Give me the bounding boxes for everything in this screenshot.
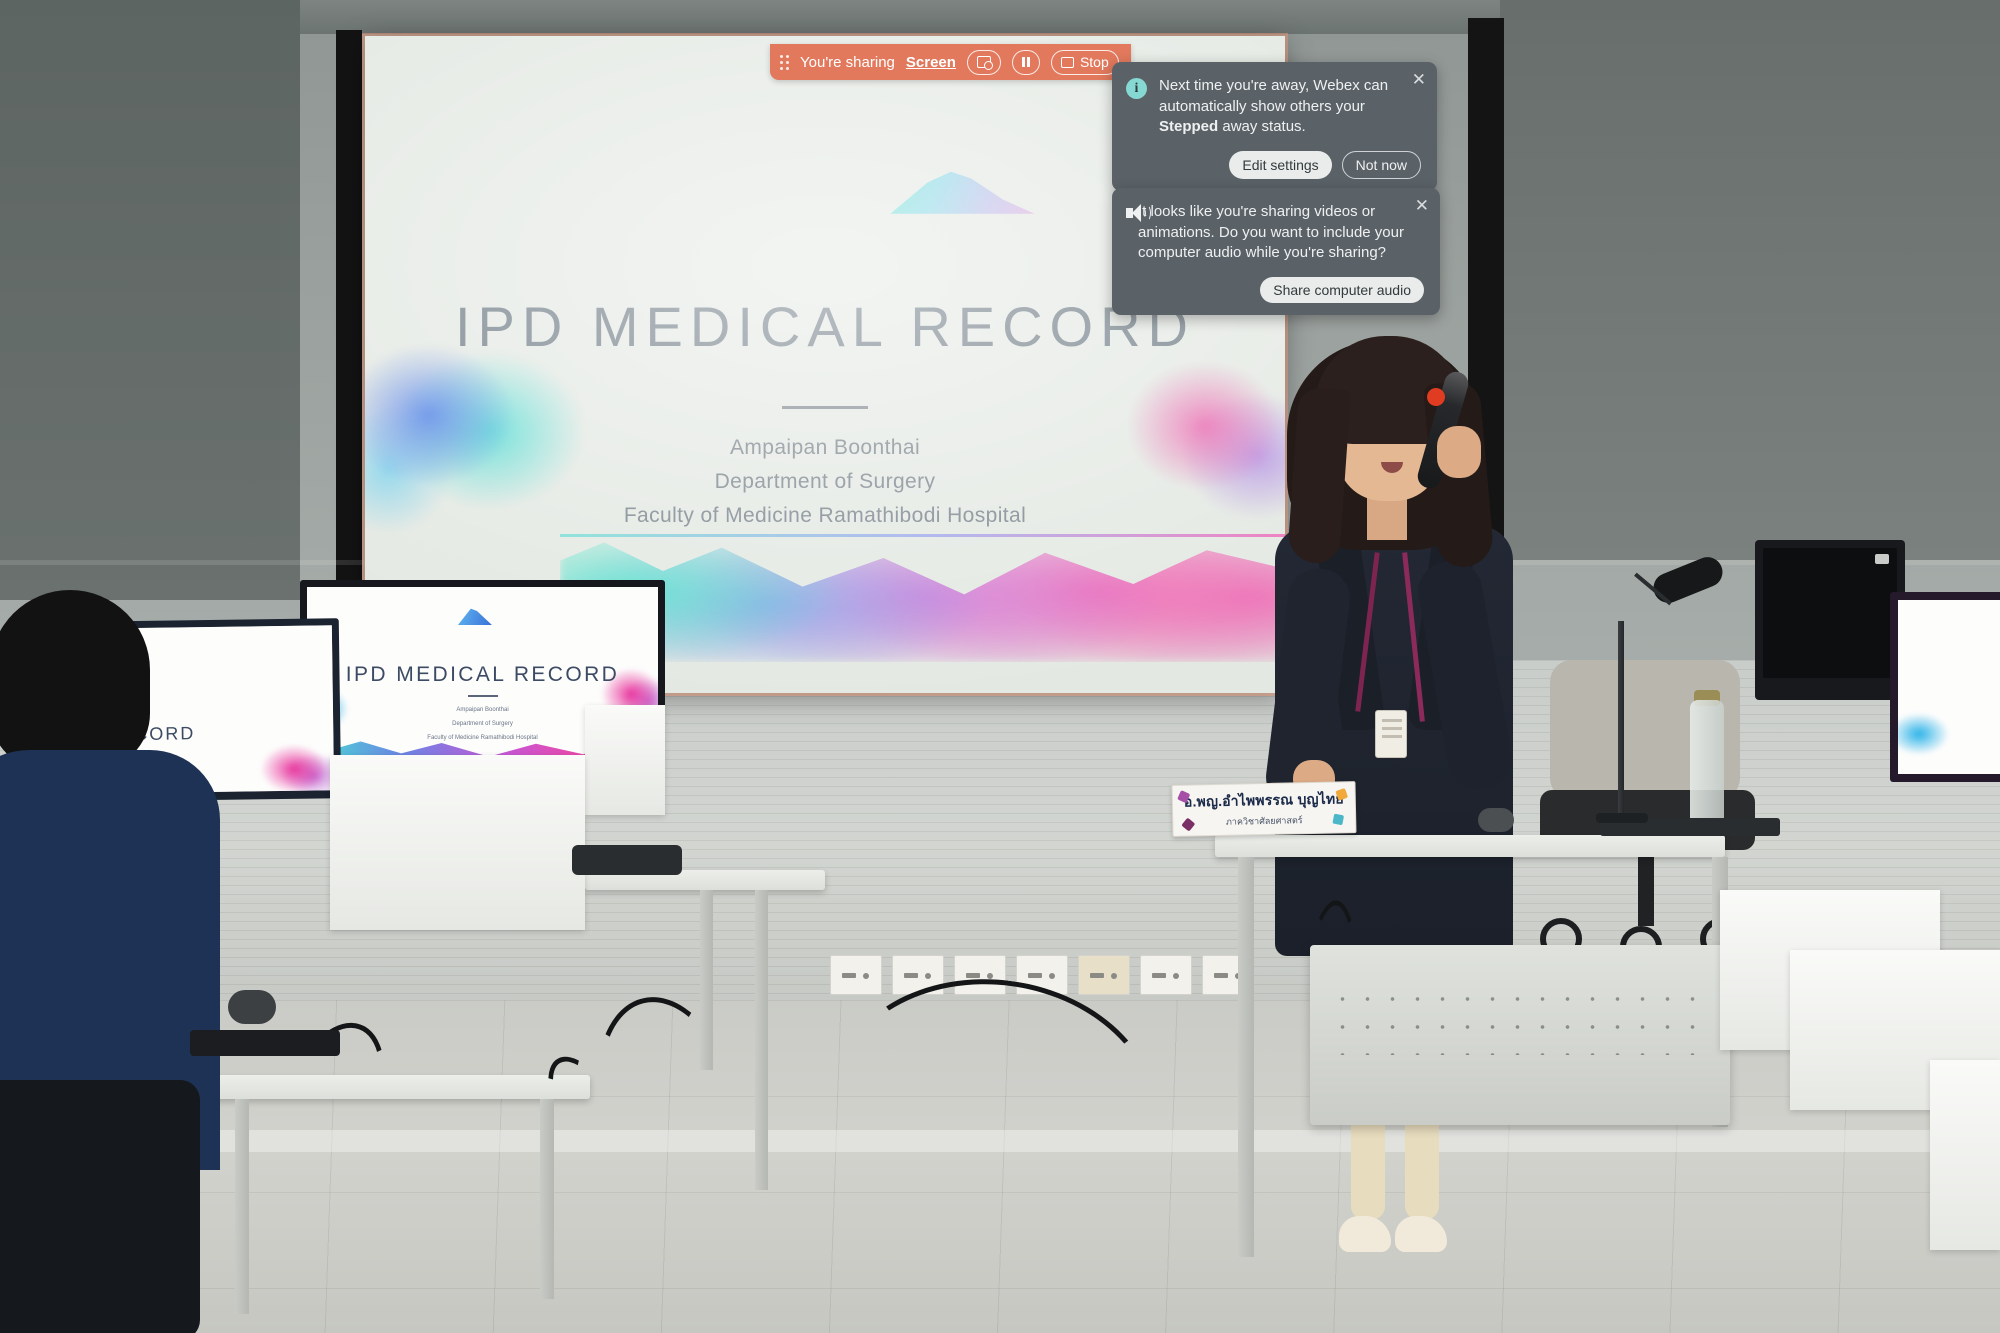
webex-toast-stepped-away[interactable]: ✕ i Next time you're away, Webex can aut… [1112,62,1437,191]
laptop[interactable] [1755,540,1905,700]
toast-text-after: away status. [1218,118,1306,135]
laptop-label [1875,554,1889,564]
audience-head [0,590,150,770]
microphone-base [1596,813,1648,823]
toast-actions: Share computer audio [1126,277,1424,303]
webex-sharing-bar[interactable]: You're sharing Screen Stop [770,44,1131,80]
pause-share-button[interactable] [1012,50,1040,75]
drag-grip-icon[interactable] [780,55,789,70]
annotate-icon [977,56,991,68]
presenter-hand-right [1437,426,1481,478]
audience-chair [0,1080,200,1333]
mini-slide-title: IPD MEDICAL RECORD [307,663,658,687]
power-outlet [1078,955,1130,995]
slide-affiliation: Faculty of Medicine Ramathibodi Hospital [365,504,1285,528]
screenshot-scene: IPD MEDICAL RECORD Ampaipan Boonthai Dep… [0,0,2000,1333]
toast-text-before: Next time you're away, Webex can automat… [1159,77,1388,115]
toast-message: It looks like you're sharing videos or a… [1138,202,1424,264]
close-icon[interactable]: ✕ [1412,71,1426,88]
edit-settings-button[interactable]: Edit settings [1229,151,1331,179]
shoe-left [1339,1216,1391,1252]
mountain-gradient-icon [890,166,1035,214]
annotate-button[interactable] [967,50,1001,75]
nameplate-department: ภาควิชาศัลยศาสตร์ [1226,813,1303,829]
gooseneck-microphone [1590,565,1720,825]
privacy-panel [1930,1060,2000,1250]
nameplate: อ.พญ.อำไพพรรณ บุญไทย ภาควิชาศัลยศาสตร์ [1171,781,1356,837]
toast-actions: Edit settings Not now [1126,151,1421,179]
podium-desktop [1215,835,1725,857]
toast-body: i Next time you're away, Webex can autom… [1126,76,1421,138]
desk-leg [540,1099,554,1299]
mini-slide: IP [1898,600,2000,774]
monitor-screen: IP [1898,600,2000,774]
id-badge [1375,710,1407,758]
mountain-gradient-icon [458,605,492,625]
monitor-right: IP [1890,592,2000,782]
not-now-button[interactable]: Not now [1342,151,1421,179]
slide-author: Ampaipan Boonthai [365,436,1285,460]
stop-share-button[interactable]: Stop [1051,50,1119,75]
toast-body: It looks like you're sharing videos or a… [1126,202,1424,264]
webex-toast-share-audio[interactable]: ✕ It looks like you're sharing videos or… [1112,188,1440,315]
toast-message: Next time you're away, Webex can automat… [1159,76,1421,138]
ink-splash-cyan-decoration [1898,704,1962,764]
mouse[interactable] [1478,808,1514,832]
sharing-label: You're sharing [800,54,895,71]
share-computer-audio-button[interactable]: Share computer audio [1260,277,1424,303]
pause-icon [1022,57,1030,67]
keyboard-foreground[interactable] [190,1030,340,1056]
ink-band-line [560,534,1285,537]
info-icon: i [1126,78,1147,138]
wall-seam-left [336,30,362,590]
podium-vent-pattern [1330,985,1710,1055]
wall-panel-left [0,0,300,600]
privacy-panel [330,755,585,930]
desk-leg [755,890,768,1190]
ink-band-bottom-decoration [560,532,1285,662]
slide-divider [782,406,868,409]
stop-square-icon [1061,57,1074,68]
sharing-target-link[interactable]: Screen [906,54,956,71]
mini-slide-divider [468,695,498,697]
podium-leg-left [1238,857,1254,1257]
shoe-right [1395,1216,1447,1252]
chair-post [1638,846,1654,926]
close-icon[interactable]: ✕ [1415,197,1429,214]
power-outlet [830,955,882,995]
wall-panel-right [1500,0,2000,560]
stop-label: Stop [1080,54,1109,70]
privacy-panel [585,705,665,815]
slide-department: Department of Surgery [365,470,1285,494]
toast-text-bold: Stepped [1159,118,1218,135]
nameplate-name: อ.พญ.อำไพพรรณ บุญไทย [1184,788,1344,813]
podium-front-panel [1310,945,1730,1125]
laptop-screen [1763,548,1897,678]
power-outlet [1140,955,1192,995]
microphone-pole [1618,621,1624,816]
headset-on-desk [572,845,682,875]
mouse-foreground[interactable] [228,990,276,1024]
